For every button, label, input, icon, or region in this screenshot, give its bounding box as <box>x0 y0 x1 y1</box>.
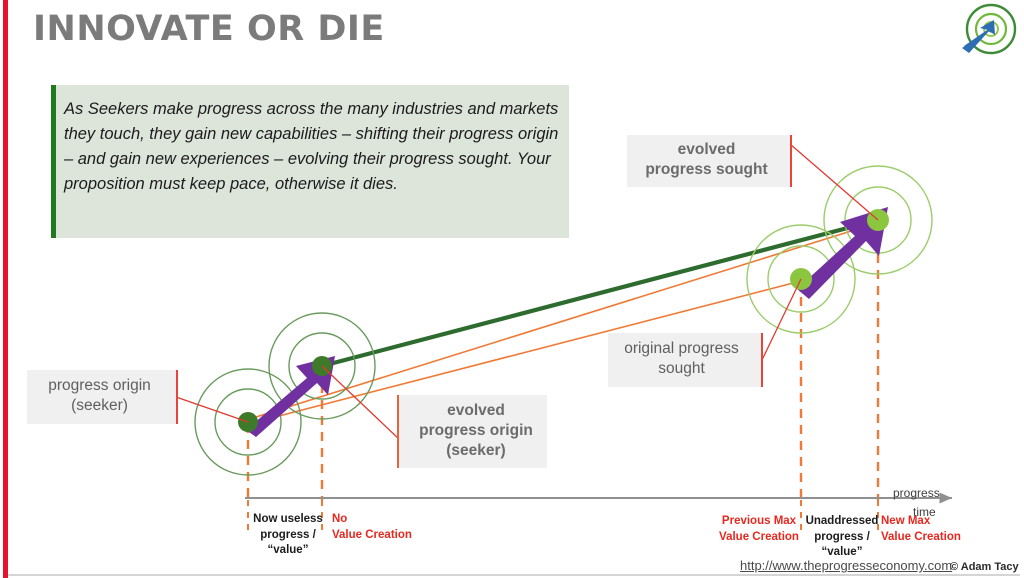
callout-evolved-origin-line2: progress origin <box>411 421 541 441</box>
axis-label-prev-max-line2: Value Creation <box>714 530 804 546</box>
callout-original-sought-line1: original progress <box>614 339 749 359</box>
axis-label-unaddressed-progress: Unaddressed progress / “value” <box>803 514 881 561</box>
callout-progress-origin-line2: (seeker) <box>33 396 166 416</box>
axis-label-prev-max-line1: Previous Max <box>714 514 804 530</box>
leader-original-sought <box>762 279 801 360</box>
axis-label-now-useless-line3: “value” <box>249 543 327 559</box>
callout-progress-origin: progress origin (seeker) <box>27 370 178 424</box>
callout-progress-origin-line1: progress origin <box>33 376 166 396</box>
axis-label-no-value-line1: No <box>332 512 428 528</box>
axis-label-unaddressed-line1: Unaddressed <box>803 514 881 530</box>
callout-original-sought-line2: sought <box>614 359 749 379</box>
bottom-divider <box>8 574 1020 576</box>
footer-url-link[interactable]: http://www.theprogresseconomy.com <box>740 558 952 573</box>
axis-name-progress: progress <box>893 486 940 500</box>
axis-name-time: time <box>913 505 936 519</box>
callout-evolved-sought-line1: evolved <box>633 140 780 160</box>
axis-label-no-value-creation: No Value Creation <box>332 512 428 543</box>
footer-copyright: © Adam Tacy <box>950 561 1019 573</box>
axis-label-now-useless-line2: progress / <box>249 528 327 544</box>
callout-evolved-origin-line1: evolved <box>411 401 541 421</box>
leader-evolved-sought <box>790 144 878 220</box>
orange-progress-line <box>240 222 880 422</box>
callout-evolved-progress-sought: evolved progress sought <box>627 135 792 187</box>
callout-original-progress-sought: original progress sought <box>608 333 763 387</box>
callout-evolved-sought-line2: progress sought <box>633 160 780 180</box>
axis-label-unaddressed-line2: progress / <box>803 530 881 546</box>
axis-label-now-useless-line1: Now useless <box>249 512 327 528</box>
slide-canvas: INNOVATE OR DIE As Seekers make progress… <box>0 0 1024 578</box>
axis-label-new-max-line2: Value Creation <box>881 530 971 546</box>
progress-diagram <box>0 0 1024 578</box>
leader-evolved-origin <box>322 366 400 440</box>
callout-evolved-origin-line3: (seeker) <box>411 441 541 461</box>
callout-evolved-progress-origin: evolved progress origin (seeker) <box>397 395 547 468</box>
axis-label-previous-max-value-creation: Previous Max Value Creation <box>714 514 804 545</box>
leader-progress-origin <box>176 397 248 422</box>
axis-label-no-value-line2: Value Creation <box>332 528 428 544</box>
tick-guides <box>248 222 878 534</box>
axis-label-now-useless: Now useless progress / “value” <box>249 512 327 559</box>
